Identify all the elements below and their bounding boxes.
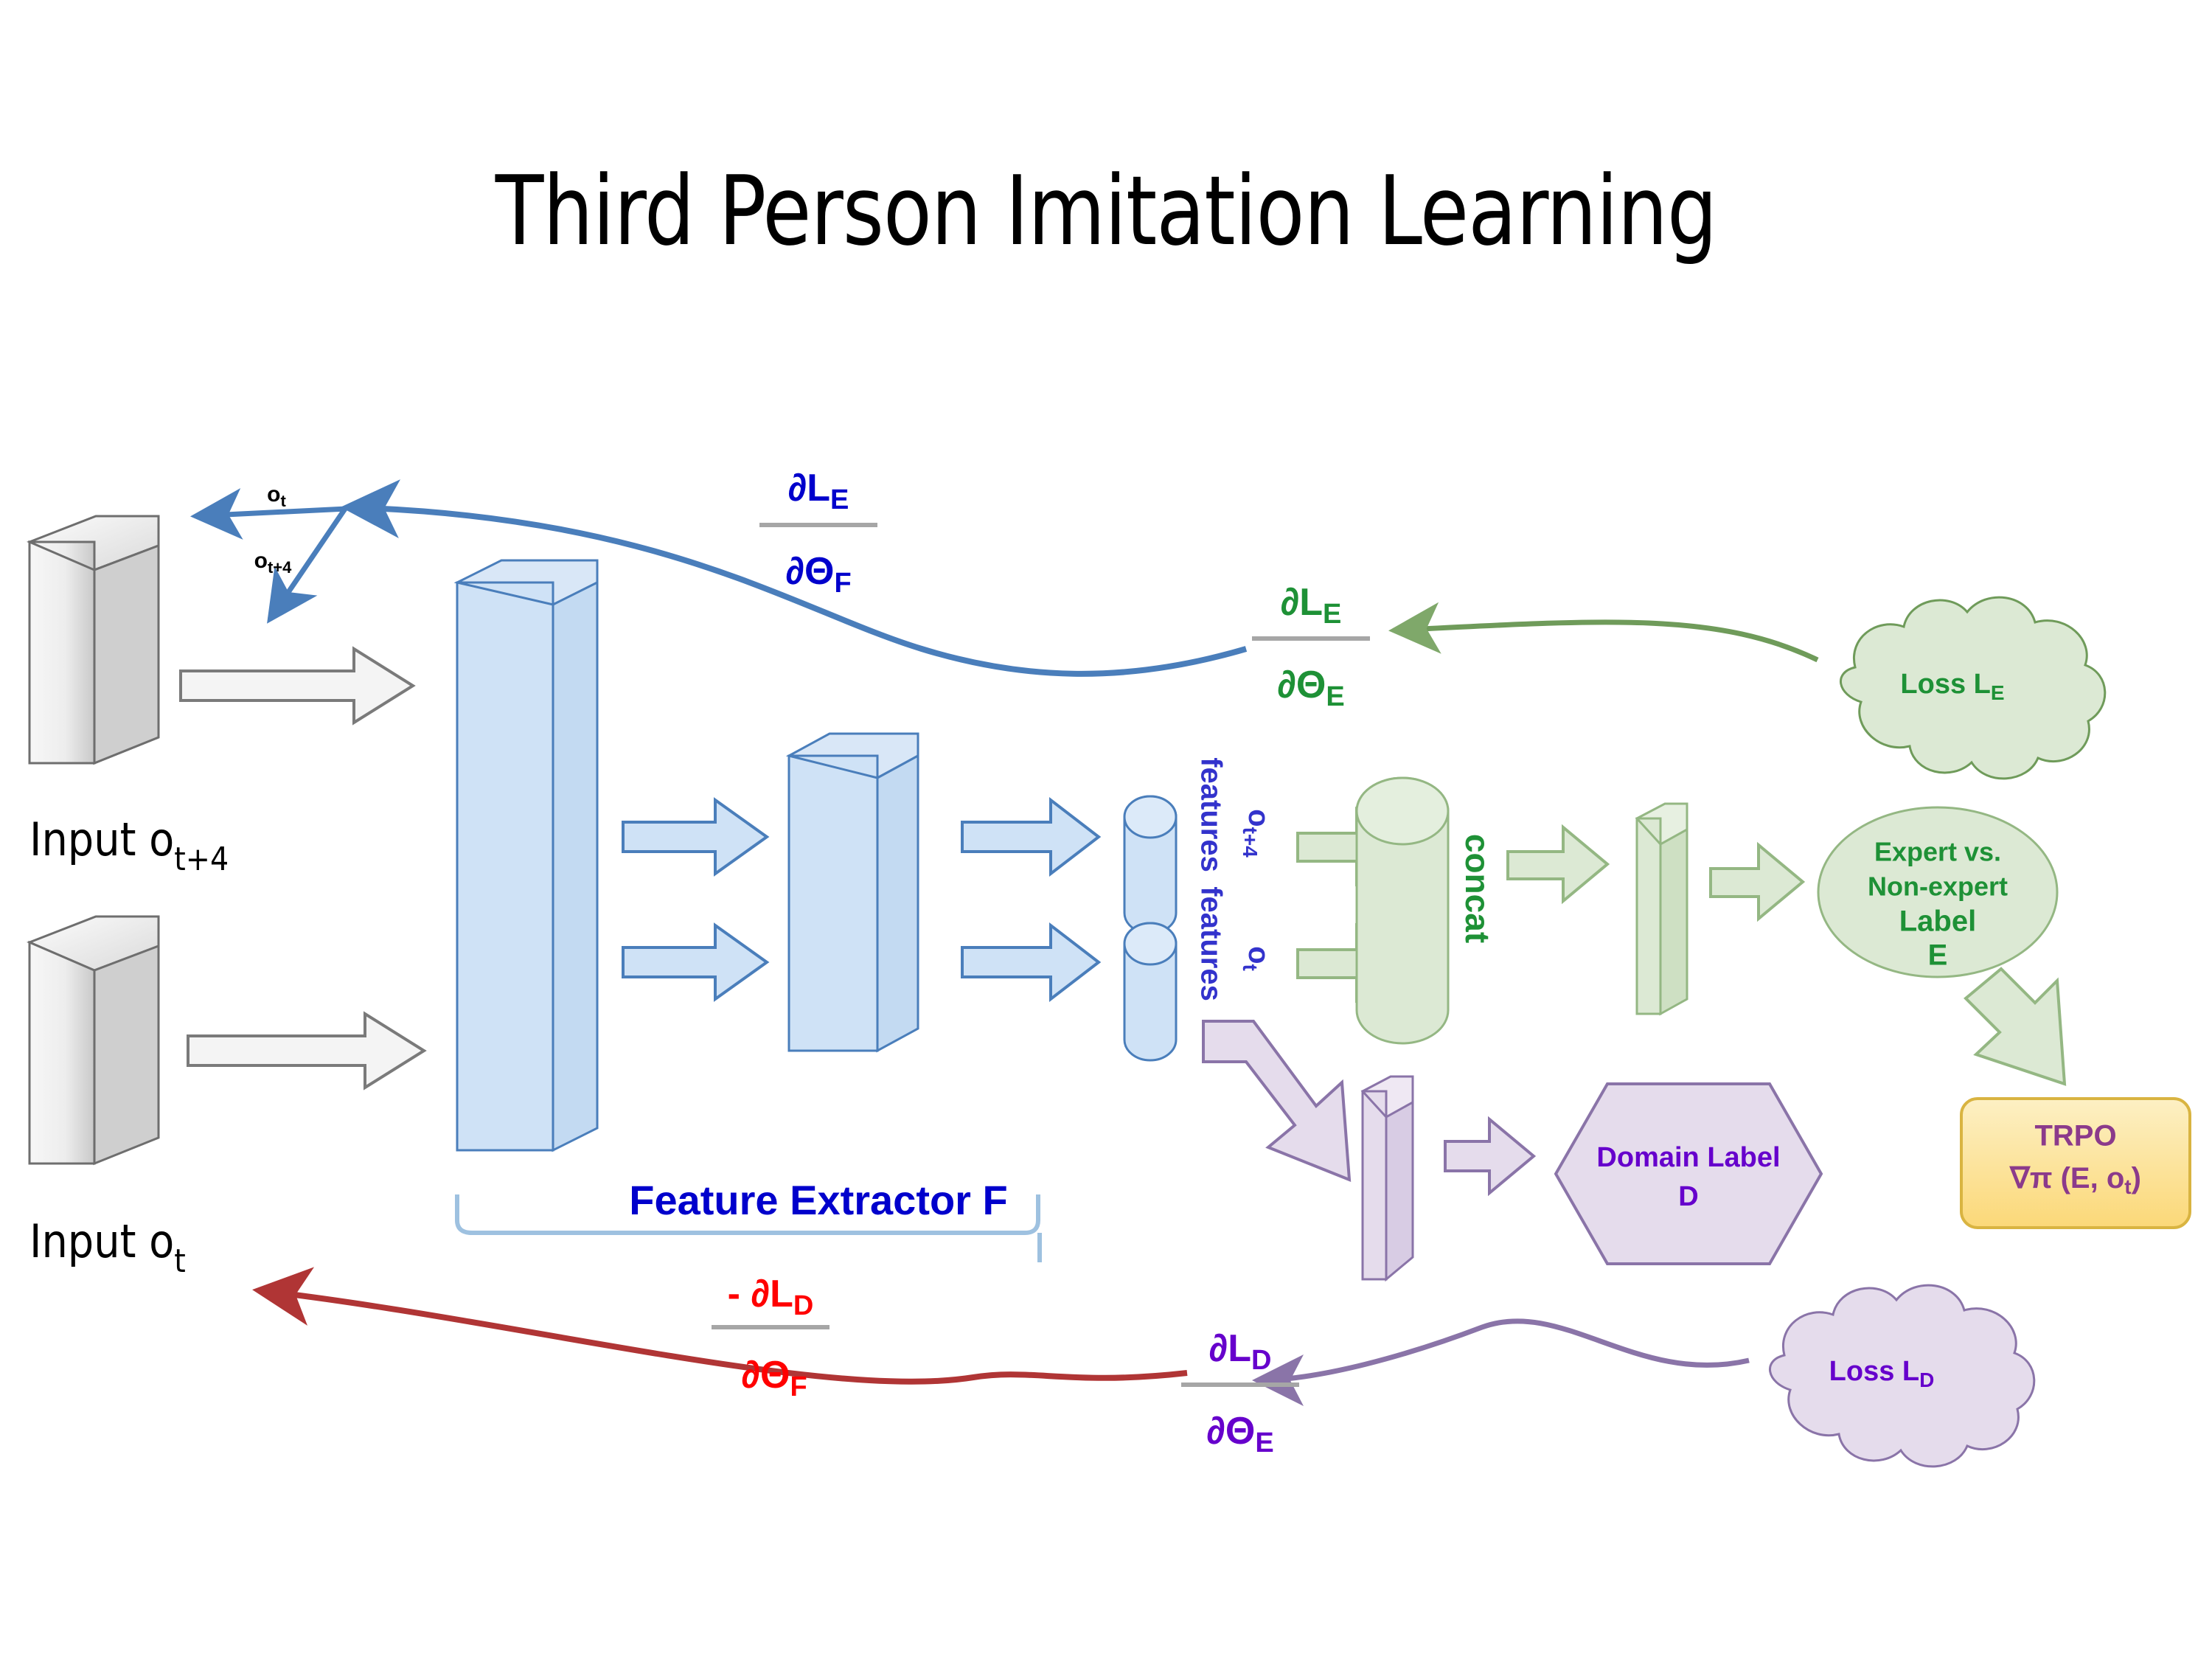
trpo-line-1: TRPO (2034, 1120, 2116, 1152)
gradient-blue-f-numerator: ∂LE (788, 467, 849, 515)
feature-extractor-label: Feature Extractor F (629, 1177, 1008, 1223)
backprop-label-ot4: ot+4 (254, 549, 293, 577)
slide-canvas: Third Person Imitation Learning (0, 0, 2212, 1659)
trpo-box: TRPO ∇π (E, ot) (1961, 1099, 2190, 1228)
green-arrow-to-expert (1711, 845, 1803, 919)
svg-text:features: features (1194, 757, 1227, 872)
domain-line-1: Domain Label (1596, 1142, 1780, 1173)
gradient-green-e-numerator: ∂LE (1281, 581, 1342, 630)
concat-cylinder (1357, 778, 1448, 1043)
expert-label-node: Expert vs. Non-expert Label E (1818, 807, 2057, 977)
purple-classifier-plate (1363, 1077, 1413, 1279)
domain-line-2: D (1678, 1181, 1698, 1212)
green-gradient-curve (1394, 622, 1818, 660)
gradient-purple-e-denominator: ∂ΘE (1206, 1410, 1274, 1458)
feature-cylinder-bottom (1124, 923, 1176, 1060)
blue-arrow-1b (623, 925, 767, 999)
input-box-top (29, 516, 159, 763)
gradient-red-f: - ∂LD ∂ΘF (712, 1273, 829, 1402)
gradient-blue-f: ∂LE ∂ΘF (759, 467, 877, 599)
feature-cylinder-top (1124, 796, 1176, 933)
input-box-bottom (29, 917, 159, 1164)
gradient-red-f-numerator: - ∂LD (728, 1273, 814, 1321)
purple-bent-arrow (1203, 1021, 1349, 1180)
gradient-purple-e-numerator: ∂LD (1209, 1327, 1272, 1376)
gradient-purple-e: ∂LD ∂ΘE (1181, 1327, 1299, 1458)
blue-arrow-1a (623, 800, 767, 874)
feature-label-bottom-sub: ot (1239, 946, 1276, 971)
svg-text:features: features (1194, 886, 1227, 1001)
backprop-label-ot: ot (267, 482, 286, 510)
domain-label-node: Domain Label D (1556, 1084, 1821, 1264)
purple-gradient-curve (1257, 1321, 1749, 1380)
gradient-green-e-denominator: ∂ΘE (1277, 664, 1345, 712)
expert-line-3: Label (1899, 905, 1976, 938)
gradient-green-e: ∂LE ∂ΘE (1252, 581, 1370, 712)
loss-e-label: Loss LE (1900, 669, 2004, 704)
purple-arrow-to-domain (1445, 1119, 1534, 1193)
expert-line-4: E (1928, 939, 1948, 972)
svg-text:concat: concat (1458, 834, 1497, 943)
green-classifier-plate (1637, 804, 1687, 1014)
loss-d-cloud: Loss LD (1770, 1285, 2034, 1467)
blue-arrow-2b (962, 925, 1099, 999)
gradient-blue-f-denominator: ∂ΘF (785, 550, 851, 599)
red-backprop-curve (258, 1290, 1187, 1382)
gray-arrow-top (181, 649, 413, 723)
feature-extractor-block-2 (789, 734, 918, 1051)
expert-line-1: Expert vs. (1874, 837, 2001, 867)
feature-label-top: features (1194, 757, 1227, 872)
loss-d-label: Loss LD (1829, 1356, 1935, 1391)
green-arrow-to-plate (1508, 827, 1607, 901)
feature-label-bottom: features (1194, 886, 1227, 1001)
loss-e-cloud: Loss LE (1840, 597, 2104, 779)
input-label-top: Input ot+4 (29, 813, 229, 878)
green-arrow-to-trpo (1966, 969, 2065, 1084)
svg-text:ot: ot (1239, 946, 1276, 971)
gray-arrow-bottom (188, 1014, 424, 1088)
gradient-red-f-denominator: ∂ΘF (741, 1354, 807, 1402)
blue-arrow-2a (962, 800, 1099, 874)
feature-extractor-block-1 (457, 560, 597, 1150)
svg-text:ot+4: ot+4 (1239, 809, 1276, 858)
blue-ot-arrow (195, 509, 347, 516)
concat-label: concat (1458, 834, 1497, 943)
input-label-bottom: Input ot (29, 1214, 186, 1280)
feature-label-top-sub: ot+4 (1239, 809, 1276, 858)
architecture-diagram: Input ot+4 Input ot (0, 0, 2212, 1659)
expert-line-2: Non-expert (1868, 872, 2008, 902)
trpo-line-2: ∇π (E, ot) (2008, 1162, 2141, 1199)
